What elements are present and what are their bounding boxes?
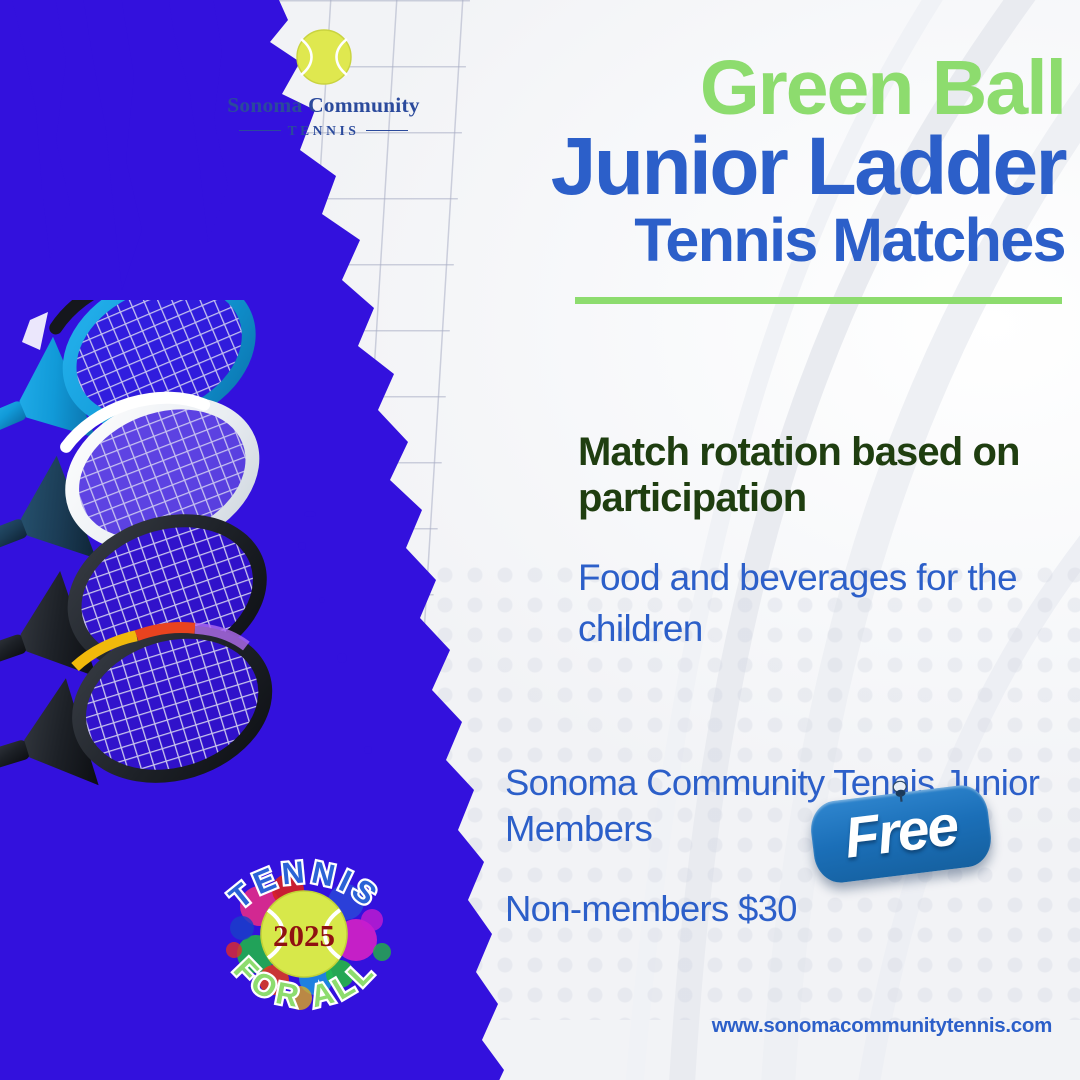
logo-subtitle-text: TENNIS xyxy=(288,123,360,139)
detail-match-rotation: Match rotation based on participation xyxy=(578,430,1056,521)
tennis-ball-icon xyxy=(295,28,353,86)
logo-name-text: Sonoma Community xyxy=(216,94,431,118)
headline-line-green: Green Ball xyxy=(440,52,1065,126)
poster-canvas: Wilson Wilson Wilson xyxy=(0,0,1080,1080)
tennis-for-all-emblem: 2025 TENNIS FOR ALL xyxy=(196,828,414,1040)
headline-line-main: Junior Ladder xyxy=(440,128,1065,207)
logo-subtitle-row: TENNIS xyxy=(216,123,431,139)
headline-line-sub: Tennis Matches xyxy=(440,211,1065,270)
tennis-rackets-image: Wilson Wilson Wilson xyxy=(0,300,530,820)
detail-food-beverages: Food and beverages for the children xyxy=(578,552,1048,654)
pricing-nonmembers: Non-members $30 xyxy=(505,888,797,930)
headline-block: Green Ball Junior Ladder Tennis Matches xyxy=(440,52,1065,269)
brand-logo: Sonoma Community TENNIS xyxy=(216,28,431,139)
logo-rule-left xyxy=(239,130,281,132)
logo-rule-right xyxy=(366,130,408,132)
footer-website[interactable]: www.sonomacommunitytennis.com xyxy=(505,1014,1052,1038)
headline-divider xyxy=(575,297,1062,304)
emblem-year: 2025 xyxy=(273,918,335,953)
